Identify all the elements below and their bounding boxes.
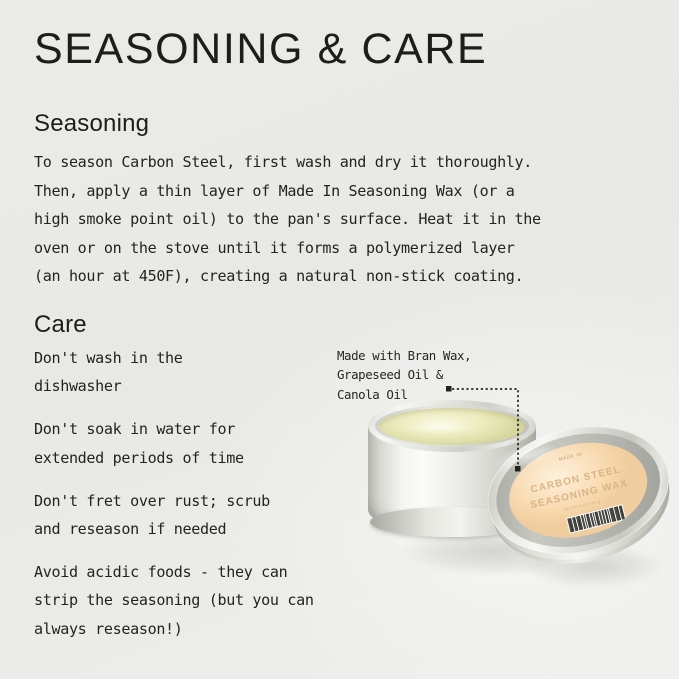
seasoning-line: (an hour at 450F), creating a natural no…: [34, 262, 650, 291]
care-line: strip the seasoning (but you can: [34, 586, 394, 614]
seasoning-body-copy: To season Carbon Steel, first wash and d…: [34, 148, 650, 291]
annotation-line: Grapeseed Oil &: [337, 365, 471, 384]
annotation-line: Made with Bran Wax,: [337, 346, 471, 365]
product-care-infographic: SEASONING & CARE Seasoning To season Car…: [0, 0, 679, 679]
care-line: Don't fret over rust; scrub: [34, 487, 394, 515]
seasoning-line: oven or on the stove until it forms a po…: [34, 234, 650, 263]
page-title: SEASONING & CARE: [34, 26, 487, 73]
seasoning-line: Then, apply a thin layer of Made In Seas…: [34, 177, 650, 206]
list-item: Don't fret over rust; scrub and reseason…: [34, 487, 394, 544]
care-line: always reseason!): [34, 615, 394, 643]
seasoning-line: high smoke point oil) to the pan's surfa…: [34, 205, 650, 234]
section-heading-seasoning: Seasoning: [34, 110, 149, 138]
care-line: Avoid acidic foods - they can: [34, 558, 394, 586]
product-image: MADE IN CARBON STEEL SEASONING WAX NET W…: [352, 372, 672, 622]
seasoning-line: To season Carbon Steel, first wash and d…: [34, 148, 650, 177]
label-brand: MADE IN: [558, 451, 583, 461]
annotation-callout: Made with Bran Wax, Grapeseed Oil & Cano…: [337, 346, 471, 404]
section-heading-care: Care: [34, 311, 87, 339]
care-line: extended periods of time: [34, 444, 394, 472]
wax-sheen: [405, 420, 475, 434]
care-line: Don't soak in water for: [34, 415, 394, 443]
annotation-line: Canola Oil: [337, 385, 471, 404]
care-line: and reseason if needed: [34, 515, 394, 543]
seasoning-wax-surface: [379, 408, 525, 445]
list-item: Avoid acidic foods - they can strip the …: [34, 558, 394, 643]
list-item: Don't soak in water for extended periods…: [34, 415, 394, 472]
